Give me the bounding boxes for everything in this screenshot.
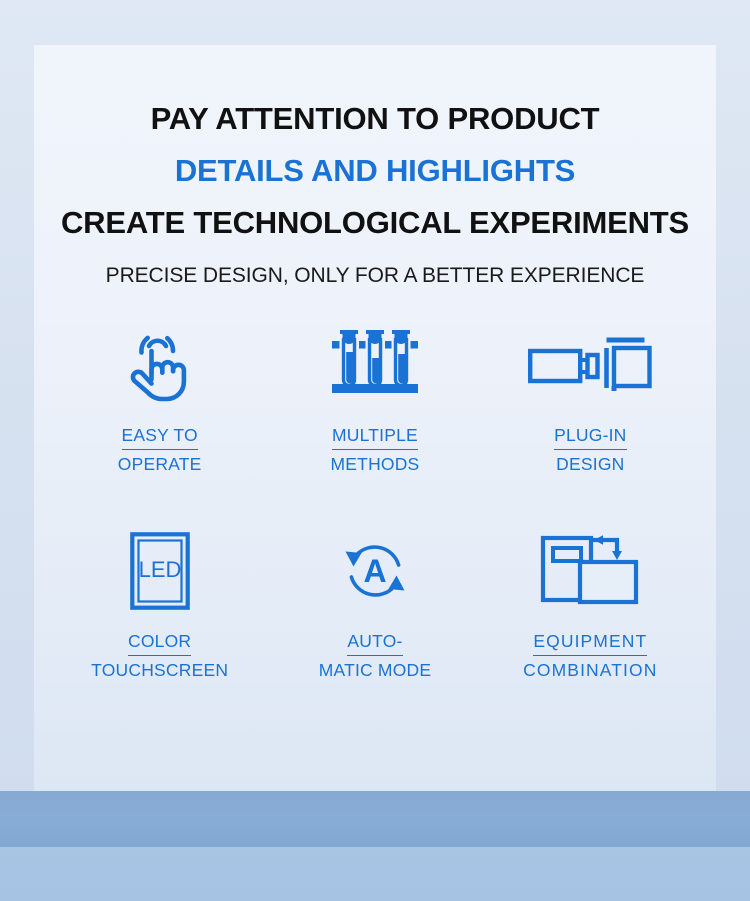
feature-label: EQUIPMENT COMBINATION: [523, 630, 657, 682]
feature-label-line-2: OPERATE: [118, 453, 202, 476]
led-icon-text: LED: [138, 557, 181, 582]
feature-label: COLOR TOUCHSCREEN: [91, 630, 228, 682]
feature-label: AUTO- MATIC MODE: [319, 630, 432, 682]
feature-label-line-1: COLOR: [128, 630, 191, 656]
test-tubes-icon: [332, 324, 418, 406]
feature-item-color-touchscreen: LED COLOR TOUCHSCREEN: [52, 530, 267, 682]
feature-item-easy-to-operate: EASY TO OPERATE: [52, 324, 267, 476]
headline-line-3: CREATE TECHNOLOGICAL EXPERIMENTS: [34, 207, 716, 238]
feature-label-line-1: MULTIPLE: [332, 424, 418, 450]
plug-in-module-icon: [528, 324, 652, 406]
feature-item-plug-in-design: PLUG-IN DESIGN: [483, 324, 698, 476]
footer-band-light: [0, 847, 750, 901]
touch-hand-icon: [124, 324, 196, 406]
feature-item-automatic-mode: A AUTO- MATIC MODE: [267, 530, 482, 682]
led-screen-icon: LED: [130, 530, 190, 612]
feature-label-line-2: MATIC MODE: [319, 659, 432, 682]
headline-line-1: PAY ATTENTION TO PRODUCT: [34, 103, 716, 134]
heading-block: PAY ATTENTION TO PRODUCT DETAILS AND HIG…: [34, 45, 716, 288]
headline-line-2: DETAILS AND HIGHLIGHTS: [34, 155, 716, 186]
feature-label-line-2: TOUCHSCREEN: [91, 659, 228, 682]
auto-icon-text: A: [363, 553, 386, 589]
feature-label-line-1: EQUIPMENT: [533, 630, 647, 656]
page-background: PAY ATTENTION TO PRODUCT DETAILS AND HIG…: [0, 0, 750, 901]
feature-label-line-2: METHODS: [331, 453, 420, 476]
equipment-combination-icon: [540, 530, 640, 612]
feature-card: PAY ATTENTION TO PRODUCT DETAILS AND HIG…: [34, 45, 716, 791]
feature-label-line-1: EASY TO: [122, 424, 198, 450]
feature-label: MULTIPLE METHODS: [331, 424, 420, 476]
feature-grid: EASY TO OPERATE: [34, 324, 716, 682]
feature-label: PLUG-IN DESIGN: [554, 424, 626, 476]
footer-band-dark: [0, 791, 750, 847]
feature-label: EASY TO OPERATE: [118, 424, 202, 476]
auto-rotate-icon: A: [336, 530, 414, 612]
headline-subtitle: PRECISE DESIGN, ONLY FOR A BETTER EXPERI…: [34, 264, 716, 288]
feature-label-line-1: PLUG-IN: [554, 424, 626, 450]
feature-label-line-2: DESIGN: [554, 453, 626, 476]
feature-item-equipment-combination: EQUIPMENT COMBINATION: [483, 530, 698, 682]
feature-item-multiple-methods: MULTIPLE METHODS: [267, 324, 482, 476]
feature-label-line-1: AUTO-: [347, 630, 402, 656]
feature-label-line-2: COMBINATION: [523, 659, 657, 682]
